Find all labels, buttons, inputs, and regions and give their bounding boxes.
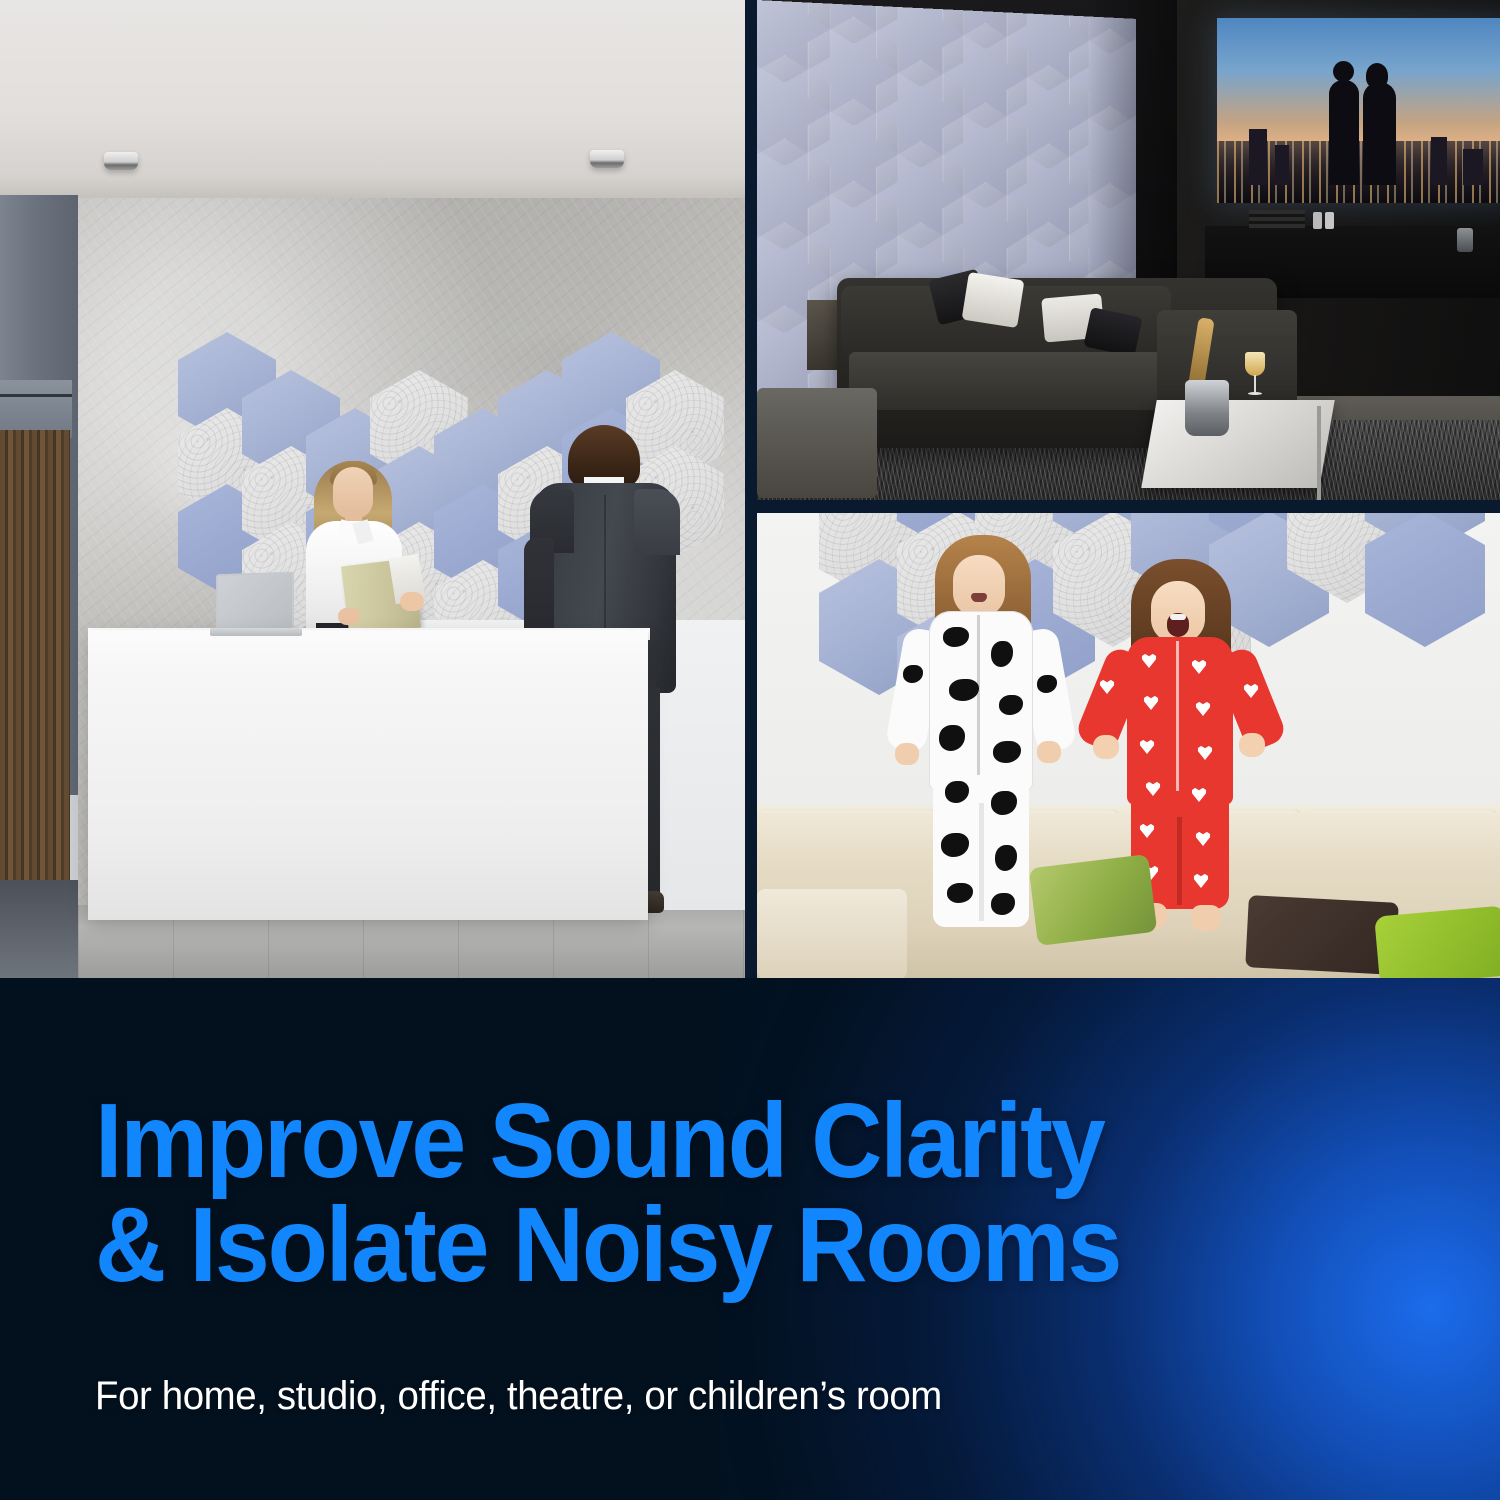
ottoman	[757, 388, 877, 498]
ceiling	[0, 0, 745, 200]
throw-pillow	[962, 272, 1025, 328]
headline-line-2: & Isolate Noisy Rooms	[95, 1194, 1402, 1298]
photo-home-theater	[757, 0, 1500, 500]
side-floor	[0, 880, 90, 978]
hand	[400, 592, 424, 611]
ceiling-spotlight-icon	[104, 152, 138, 170]
laptop-screen	[216, 572, 294, 633]
projection-screen	[1217, 18, 1500, 203]
remote-control	[1313, 212, 1322, 229]
girl-in-heart-onesie	[1087, 559, 1277, 899]
headline-line-1: Improve Sound Clarity	[95, 1090, 1402, 1194]
remote-control	[1325, 212, 1334, 229]
silhouette-woman	[1363, 82, 1396, 185]
cream-pillow	[757, 889, 907, 978]
hand	[338, 608, 360, 625]
photo-grid	[0, 0, 1500, 980]
wine-glass	[1245, 352, 1265, 398]
lime-pillow	[1374, 905, 1500, 978]
marketing-banner: Improve Sound Clarity & Isolate Noisy Ro…	[0, 978, 1500, 1500]
green-pillow	[1029, 854, 1158, 946]
table-leg	[1317, 406, 1321, 500]
photo-kids-room	[757, 513, 1500, 978]
ice-bucket	[1185, 380, 1229, 436]
laptop-base	[210, 628, 302, 636]
silhouette-man	[1329, 80, 1359, 185]
subtitle: For home, studio, office, theatre, or ch…	[95, 1374, 1444, 1419]
stacked-books	[1249, 210, 1305, 230]
headline: Improve Sound Clarity & Isolate Noisy Ro…	[95, 1090, 1402, 1298]
marble-side-table	[1141, 400, 1335, 488]
reception-desk	[88, 630, 648, 920]
product-marketing-image: Improve Sound Clarity & Isolate Noisy Ro…	[0, 0, 1500, 1500]
ceiling-spotlight-icon	[590, 150, 624, 168]
speaker	[1457, 228, 1473, 252]
banner-content: Improve Sound Clarity & Isolate Noisy Ro…	[0, 978, 1500, 1419]
wood-slat-wall	[0, 430, 70, 910]
photo-office-reception	[0, 0, 745, 978]
